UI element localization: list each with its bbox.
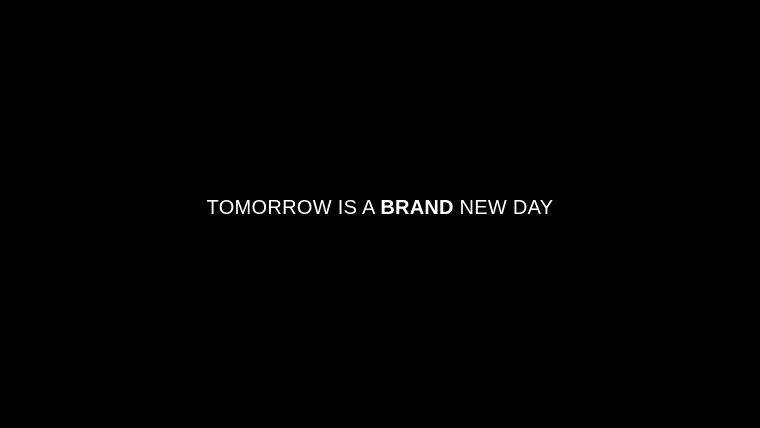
video-frame: TOMORROW IS A BRAND NEW DAY	[0, 0, 760, 428]
title-card-text: TOMORROW IS A BRAND NEW DAY	[0, 196, 760, 220]
title-segment-trail: NEW DAY	[454, 197, 554, 219]
title-segment-lead: TOMORROW IS A	[207, 197, 381, 219]
title-segment-emphasis: BRAND	[380, 197, 453, 219]
